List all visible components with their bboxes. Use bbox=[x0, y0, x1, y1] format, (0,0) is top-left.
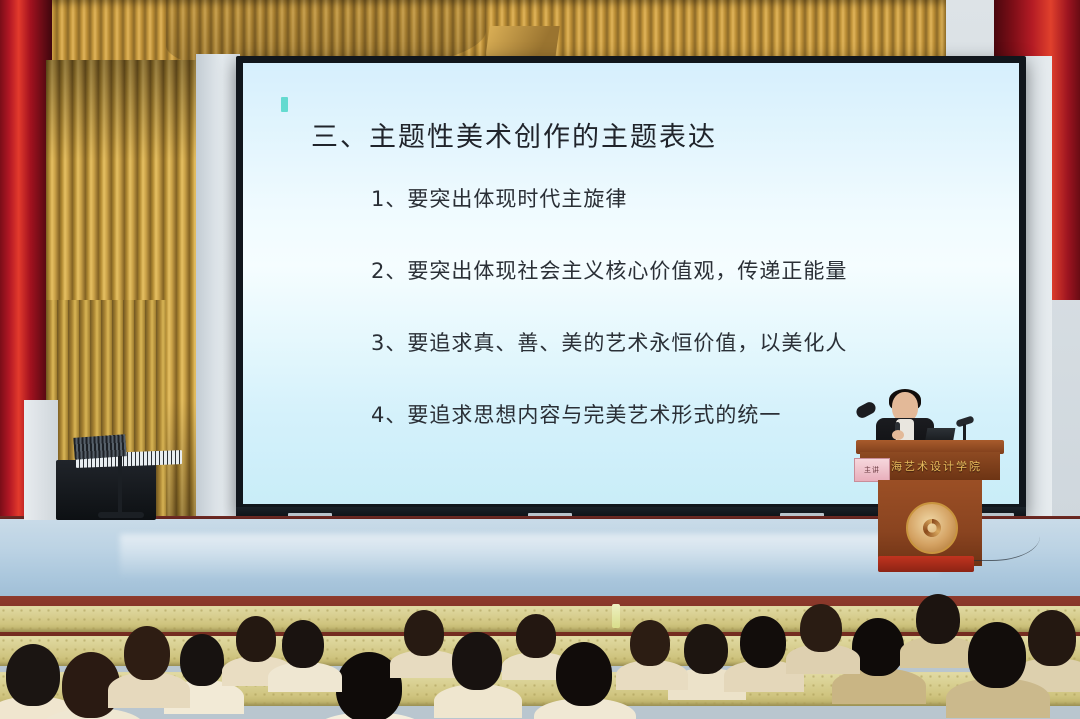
audience-member-head bbox=[684, 624, 728, 674]
slide-bullet-3: 3、要追求真、善、美的艺术永恒价值，以美化人 bbox=[371, 327, 847, 357]
emblem-spiral-glyph bbox=[919, 515, 945, 541]
wall-panel-left bbox=[196, 54, 240, 524]
upright-piano bbox=[56, 460, 156, 520]
presenter-hand bbox=[892, 430, 904, 440]
lecture-hall-photo: 三、主题性美术创作的主题表达 1、要突出体现时代主旋律 2、要突出体现社会主义核… bbox=[0, 0, 1080, 719]
slide-bullet-4: 4、要追求思想内容与完美艺术形式的统一 bbox=[371, 399, 847, 429]
audience-member-head bbox=[452, 632, 502, 690]
loudspeaker-cabinet bbox=[24, 400, 58, 520]
audience-member-head bbox=[180, 634, 224, 686]
audience-member-head bbox=[236, 616, 276, 662]
audience-member-head bbox=[630, 620, 670, 666]
podium-name-card: 主讲 bbox=[854, 458, 890, 482]
spiral-seal-emblem-icon bbox=[906, 502, 958, 554]
slide-bullet-list: 1、要突出体现时代主旋律 2、要突出体现社会主义核心价值观，传递正能量 3、要追… bbox=[371, 183, 847, 429]
water-bottle bbox=[612, 604, 620, 628]
text-cursor-icon bbox=[281, 97, 288, 112]
audience-member-head bbox=[968, 622, 1026, 688]
slide-title: 三、主题性美术创作的主题表达 bbox=[311, 115, 717, 154]
audience-member-head bbox=[800, 604, 842, 652]
audience-member-head bbox=[404, 610, 444, 656]
slide-bullet-1: 1、要突出体现时代主旋律 bbox=[371, 183, 847, 213]
audience-member-head bbox=[516, 614, 556, 658]
audience-member-head bbox=[282, 620, 324, 668]
audience-member-head bbox=[6, 644, 60, 706]
audience-member-head bbox=[916, 594, 960, 644]
audience-area bbox=[0, 560, 1080, 719]
audience-member-head bbox=[556, 642, 612, 706]
audience-member-head bbox=[740, 616, 786, 668]
music-stand-pole bbox=[118, 456, 122, 516]
audience-member-head bbox=[1028, 610, 1076, 666]
audience-member-head bbox=[124, 626, 170, 680]
slide-bullet-2: 2、要突出体现社会主义核心价值观，传递正能量 bbox=[371, 255, 847, 285]
music-stand-base bbox=[98, 512, 144, 518]
